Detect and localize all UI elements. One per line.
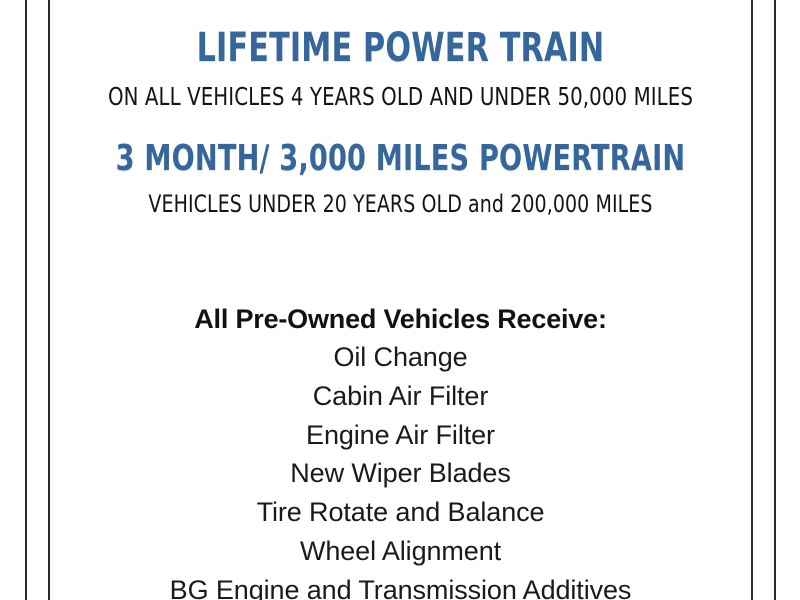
warranty-block-lifetime: LIFETIME POWER TRAIN ON ALL VEHICLES 4 Y…: [50, 28, 751, 109]
list-item: BG Engine and Transmission Additives: [50, 571, 751, 600]
services-section: All Pre-Owned Vehicles Receive: Oil Chan…: [50, 300, 751, 600]
warranty-flyer: LIFETIME POWER TRAIN ON ALL VEHICLES 4 Y…: [0, 0, 800, 600]
frame-rule-left-outer: [25, 0, 27, 600]
flyer-content: LIFETIME POWER TRAIN ON ALL VEHICLES 4 Y…: [50, 0, 751, 600]
list-item: Tire Rotate and Balance: [50, 493, 751, 532]
warranty-subheading-three-month: VEHICLES UNDER 20 YEARS OLD and 200,000 …: [92, 192, 709, 216]
warranty-heading-three-month: 3 MONTH/ 3,000 MILES POWERTRAIN: [106, 141, 695, 177]
warranty-heading-lifetime: LIFETIME POWER TRAIN: [106, 28, 695, 68]
warranty-block-three-month: 3 MONTH/ 3,000 MILES POWERTRAIN VEHICLES…: [50, 141, 751, 216]
services-list: Oil Change Cabin Air Filter Engine Air F…: [50, 338, 751, 600]
frame-rule-right-outer: [774, 0, 776, 600]
list-item: Cabin Air Filter: [50, 377, 751, 416]
warranty-subheading-lifetime: ON ALL VEHICLES 4 YEARS OLD AND UNDER 50…: [92, 84, 709, 109]
list-item: Oil Change: [50, 338, 751, 377]
list-item: New Wiper Blades: [50, 454, 751, 493]
frame-rule-right-inner: [751, 0, 753, 600]
services-title: All Pre-Owned Vehicles Receive:: [50, 300, 751, 338]
list-item: Engine Air Filter: [50, 416, 751, 455]
list-item: Wheel Alignment: [50, 532, 751, 571]
